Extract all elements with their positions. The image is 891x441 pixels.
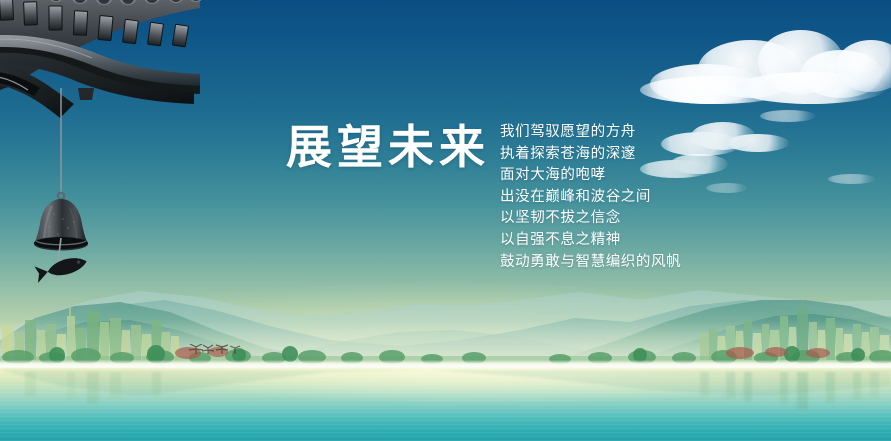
verse-line: 以自强不息之精神 [500, 230, 800, 252]
verse-line: 我们驾驭愿望的方舟 [500, 122, 800, 144]
verse-block: 我们驾驭愿望的方舟 执着探索苍海的深邃 面对大海的咆哮 出没在巅峰和波谷之间 以… [500, 122, 800, 273]
page-title: 展望未来 [286, 124, 490, 170]
verse-line: 出没在巅峰和波谷之间 [500, 187, 800, 209]
verse-line: 鼓动勇敢与智慧编织的风帆 [500, 252, 800, 274]
verse-line: 以坚韧不拔之信念 [500, 208, 800, 230]
hanging-wind-bell [30, 88, 110, 288]
lake-water [0, 368, 891, 441]
verse-line: 面对大海的咆哮 [500, 165, 800, 187]
verse-line: 执着探索苍海的深邃 [500, 144, 800, 166]
promo-banner: 展望未来 我们驾驭愿望的方舟 执着探索苍海的深邃 面对大海的咆哮 出没在巅峰和波… [0, 0, 891, 441]
